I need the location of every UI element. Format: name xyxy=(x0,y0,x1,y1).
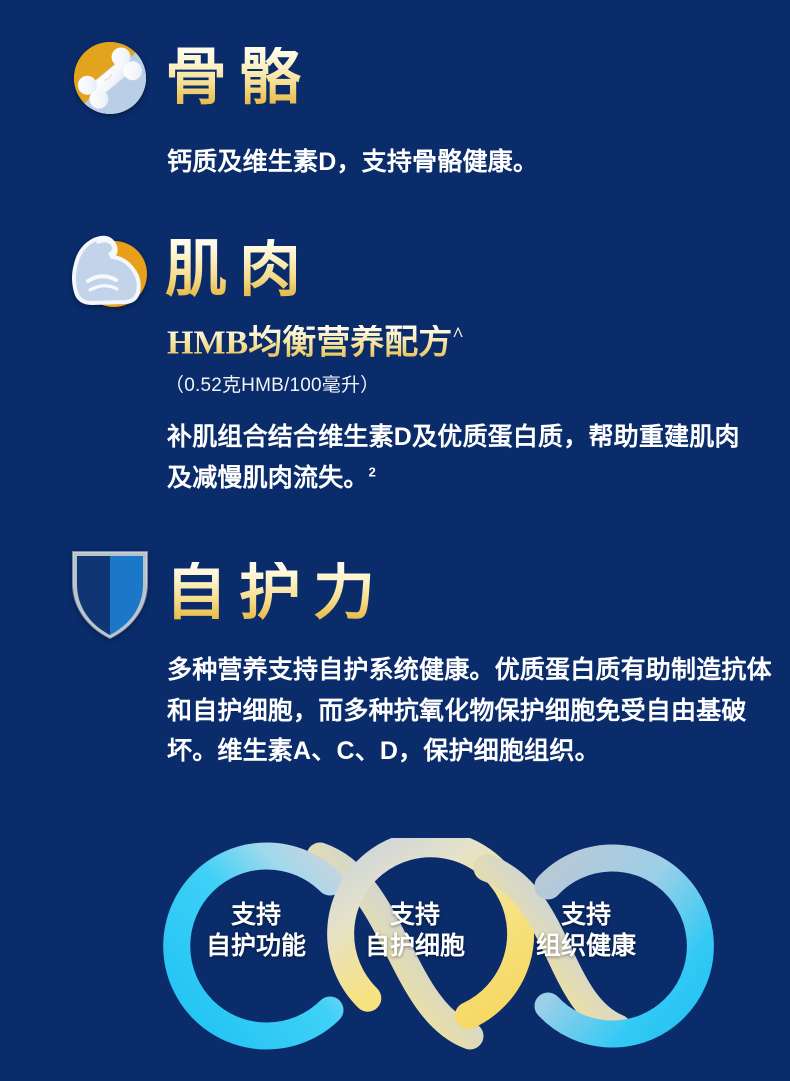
section-muscle-body-marker: 2 xyxy=(369,464,376,479)
bone-circle-icon xyxy=(62,30,158,126)
section-bone-title: 骨骼 xyxy=(165,47,313,109)
section-muscle-header: 肌肉 xyxy=(0,222,790,318)
section-muscle: 肌肉 HMB均衡营养配方^ （0.52克HMB/100毫升） 补肌组合结合维生素… xyxy=(0,222,790,318)
hmb-formula-subtext: （0.52克HMB/100毫升） xyxy=(165,370,379,397)
section-muscle-body: 补肌组合结合维生素D及优质蛋白质，帮助重建肌肉及减慢肌肉流失。2 xyxy=(167,417,762,498)
loop-node-2-line1: 支持 xyxy=(345,900,485,931)
section-immunity: 自护力 多种营养支持自护系统健康。优质蛋白质有助制造抗体和自护细胞，而多种抗氧化… xyxy=(0,545,790,641)
loop-node-3-line2: 组织健康 xyxy=(516,931,656,962)
section-immunity-header: 自护力 xyxy=(0,545,790,641)
loop-node-1: 支持 自护功能 xyxy=(186,900,326,963)
promo-page: 骨骼 钙质及维生素D，支持骨骼健康。 肌肉 HMB均衡营养配方^ （0.52克H… xyxy=(0,0,790,1081)
loop-node-1-line1: 支持 xyxy=(186,900,326,931)
flexed-bicep-icon-svg xyxy=(64,224,156,316)
loop-node-2: 支持 自护细胞 xyxy=(345,900,485,963)
section-bone-body: 钙质及维生素D，支持骨骼健康。 xyxy=(167,142,767,183)
infinity-loop-graphic: 支持 自护功能 支持 自护细胞 支持 组织健康 xyxy=(0,838,790,1053)
hmb-formula-marker: ^ xyxy=(452,324,464,346)
shield-icon xyxy=(62,545,158,641)
section-immunity-title: 自护力 xyxy=(165,562,387,624)
loop-node-1-line2: 自护功能 xyxy=(186,931,326,962)
loop-node-2-line2: 自护细胞 xyxy=(345,931,485,962)
section-muscle-body-text: 补肌组合结合维生素D及优质蛋白质，帮助重建肌肉及减慢肌肉流失。 xyxy=(167,423,740,492)
section-bone-header: 骨骼 xyxy=(0,30,790,126)
hmb-formula-headline-text: HMB均衡营养配方 xyxy=(167,324,452,361)
flexed-bicep-icon xyxy=(62,222,158,318)
bone-circle-icon-svg xyxy=(64,32,156,124)
shield-icon-svg xyxy=(69,546,151,640)
hmb-formula-headline: HMB均衡营养配方^ xyxy=(167,325,464,360)
loop-node-3-line1: 支持 xyxy=(516,900,656,931)
section-immunity-body: 多种营养支持自护系统健康。优质蛋白质有助制造抗体和自护细胞，而多种抗氧化物保护细… xyxy=(167,650,775,772)
section-bone: 骨骼 钙质及维生素D，支持骨骼健康。 xyxy=(0,30,790,126)
section-muscle-title: 肌肉 xyxy=(165,239,313,301)
loop-node-3: 支持 组织健康 xyxy=(516,900,656,963)
